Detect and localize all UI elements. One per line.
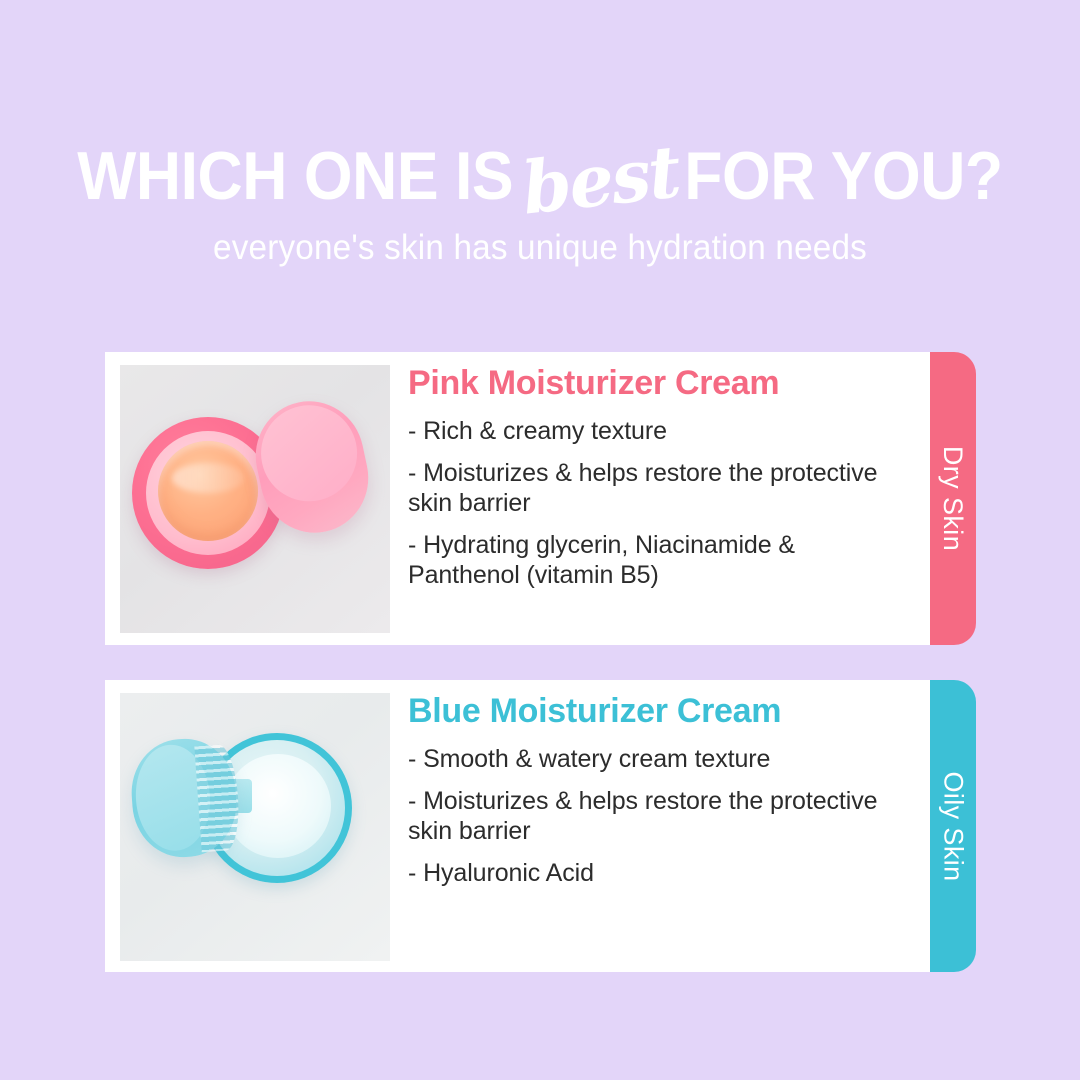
feature-item: - Hyaluronic Acid <box>408 858 910 888</box>
page-subtitle: everyone's skin has unique hydration nee… <box>27 210 1053 265</box>
feature-item: - Hydrating glycerin, Niacinamide & Pant… <box>408 530 910 590</box>
skin-type-tab-dry[interactable]: Dry Skin <box>930 352 976 645</box>
product-card-pink[interactable]: Pink Moisturizer Cream - Rich & creamy t… <box>105 352 930 645</box>
headline-part-1: WHICH ONE IS <box>77 142 513 210</box>
skin-type-tab-oily-label: Oily Skin <box>938 771 969 881</box>
feature-item: - Smooth & watery cream texture <box>408 744 910 774</box>
blue-moisturizer-jar-photo <box>120 693 390 961</box>
pink-moisturizer-jar-photo <box>120 365 390 633</box>
pink-card-body: Pink Moisturizer Cream - Rich & creamy t… <box>390 352 930 590</box>
feature-item: - Moisturizes & helps restore the protec… <box>408 458 910 518</box>
blue-card-body: Blue Moisturizer Cream - Smooth & watery… <box>390 680 930 888</box>
pink-jar-cream <box>158 441 258 541</box>
product-title-blue: Blue Moisturizer Cream <box>408 694 910 730</box>
skin-type-tab-oily[interactable]: Oily Skin <box>930 680 976 972</box>
skin-type-tab-dry-label: Dry Skin <box>938 446 969 551</box>
headline-part-2: FOR YOU? <box>684 142 1002 210</box>
feature-item: - Rich & creamy texture <box>408 416 910 446</box>
page-headline: WHICH ONE ISbestFOR YOU? <box>43 0 1037 210</box>
product-title-pink: Pink Moisturizer Cream <box>408 366 910 402</box>
feature-item: - Moisturizes & helps restore the protec… <box>408 786 910 846</box>
header: WHICH ONE ISbestFOR YOU? everyone's skin… <box>0 0 1080 265</box>
product-card-blue[interactable]: Blue Moisturizer Cream - Smooth & watery… <box>105 680 930 972</box>
